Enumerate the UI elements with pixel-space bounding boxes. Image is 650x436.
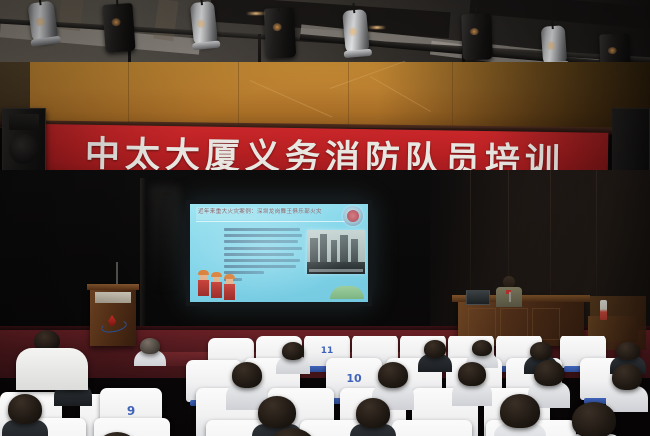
stage-light-silver (190, 1, 218, 47)
audience-member (140, 338, 160, 354)
flame-and-ring-logo-icon (101, 315, 125, 329)
lectern-top (87, 284, 139, 290)
projection-screen-frame: 近年来重大火灾案例：深圳龙岗舞王俱乐部火灾 (186, 200, 372, 306)
pa-speaker-left (2, 108, 46, 176)
pa-speaker-right (612, 108, 650, 172)
speaker-woofer (9, 134, 39, 164)
audience-member (500, 394, 540, 428)
attendee-shirt (16, 348, 88, 390)
stage-light-black (264, 7, 297, 59)
audience-member (232, 362, 262, 388)
stage-light-black (461, 13, 493, 60)
wall-light-panel (150, 185, 180, 295)
strip-light (246, 12, 266, 15)
slide-title-rule (196, 221, 348, 222)
desk-monitor (466, 290, 490, 305)
ceiling-plank (153, 0, 178, 41)
stage-light-silver (342, 9, 370, 55)
fire-department-badge-icon (343, 206, 363, 226)
stage-light-silver (541, 25, 568, 67)
projection-screen: 近年来重大火灾案例：深圳龙岗舞王俱乐部火灾 (190, 204, 368, 302)
strip-light (368, 26, 386, 29)
audience-member (424, 340, 446, 358)
audience-seat[interactable] (94, 418, 170, 436)
wood-panel-wall (0, 62, 650, 128)
audience-member (616, 342, 640, 360)
audience-member (612, 364, 642, 390)
slide-title: 近年来重大火灾案例：深圳龙岗舞王俱乐部火灾 (198, 207, 338, 218)
audience-member (378, 362, 408, 388)
auditorium-photo: 中太大厦义务消防队员培训 近年来重大火灾案例：深圳龙岗舞王俱乐部火灾 (0, 0, 650, 436)
slide-illustration-firefighters (196, 260, 258, 300)
seat-number: 9 (100, 404, 162, 418)
attendee-white-shirt (10, 330, 100, 390)
speaker-tweeter (9, 114, 39, 130)
seat-number: 11 (304, 346, 350, 356)
audience-member (458, 362, 486, 386)
stage-light-silver (27, 0, 58, 43)
audience-member (530, 342, 552, 360)
slide-photo-caption (309, 269, 363, 272)
audience-member (472, 340, 492, 356)
water-bottle (600, 300, 607, 320)
wall-panel-edge (140, 178, 146, 328)
audience-member (534, 360, 564, 386)
audience-member (572, 402, 616, 436)
desk-microphone (509, 292, 511, 302)
slide-illustration-hill (330, 286, 364, 299)
audience-seat[interactable] (392, 420, 472, 436)
audience-member (356, 398, 390, 428)
slide-photo-fire-damage (307, 230, 365, 274)
audience-member (258, 396, 296, 428)
stage-light-black (102, 3, 135, 53)
seat-number: 10 (326, 372, 382, 385)
audience-member (8, 394, 42, 424)
audience-member (282, 342, 304, 360)
lectern-plate (95, 292, 131, 303)
